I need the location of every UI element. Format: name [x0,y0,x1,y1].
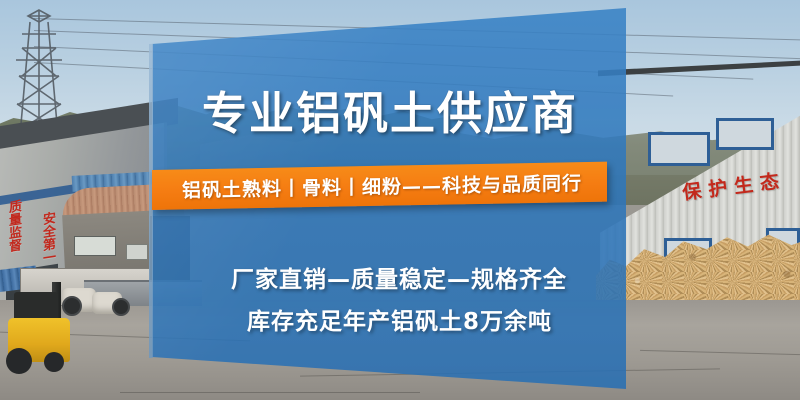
left-building-sign: 质量监督 [6,199,20,257]
truck-wheel [62,296,82,316]
subline-one: 厂家直销—质量稳定—规格齐全 [231,264,631,296]
left-building-sign-secondary: 安全第一 [40,211,54,269]
ground-crack [120,392,420,393]
building-window [716,118,774,150]
headline: 专业铝矾土供应商 [202,86,622,142]
forklift-wheel [6,348,32,374]
forklift-wheel [44,352,64,372]
subline-two: 库存充足年产铝矾土8万余吨 [247,306,647,338]
shed-window [74,236,116,256]
air-conditioner-unit [126,244,148,260]
promo-banner: 保护生态 质量监督 安全第一 [0,0,800,400]
truck-wheel [112,298,130,316]
building-window [648,132,710,166]
